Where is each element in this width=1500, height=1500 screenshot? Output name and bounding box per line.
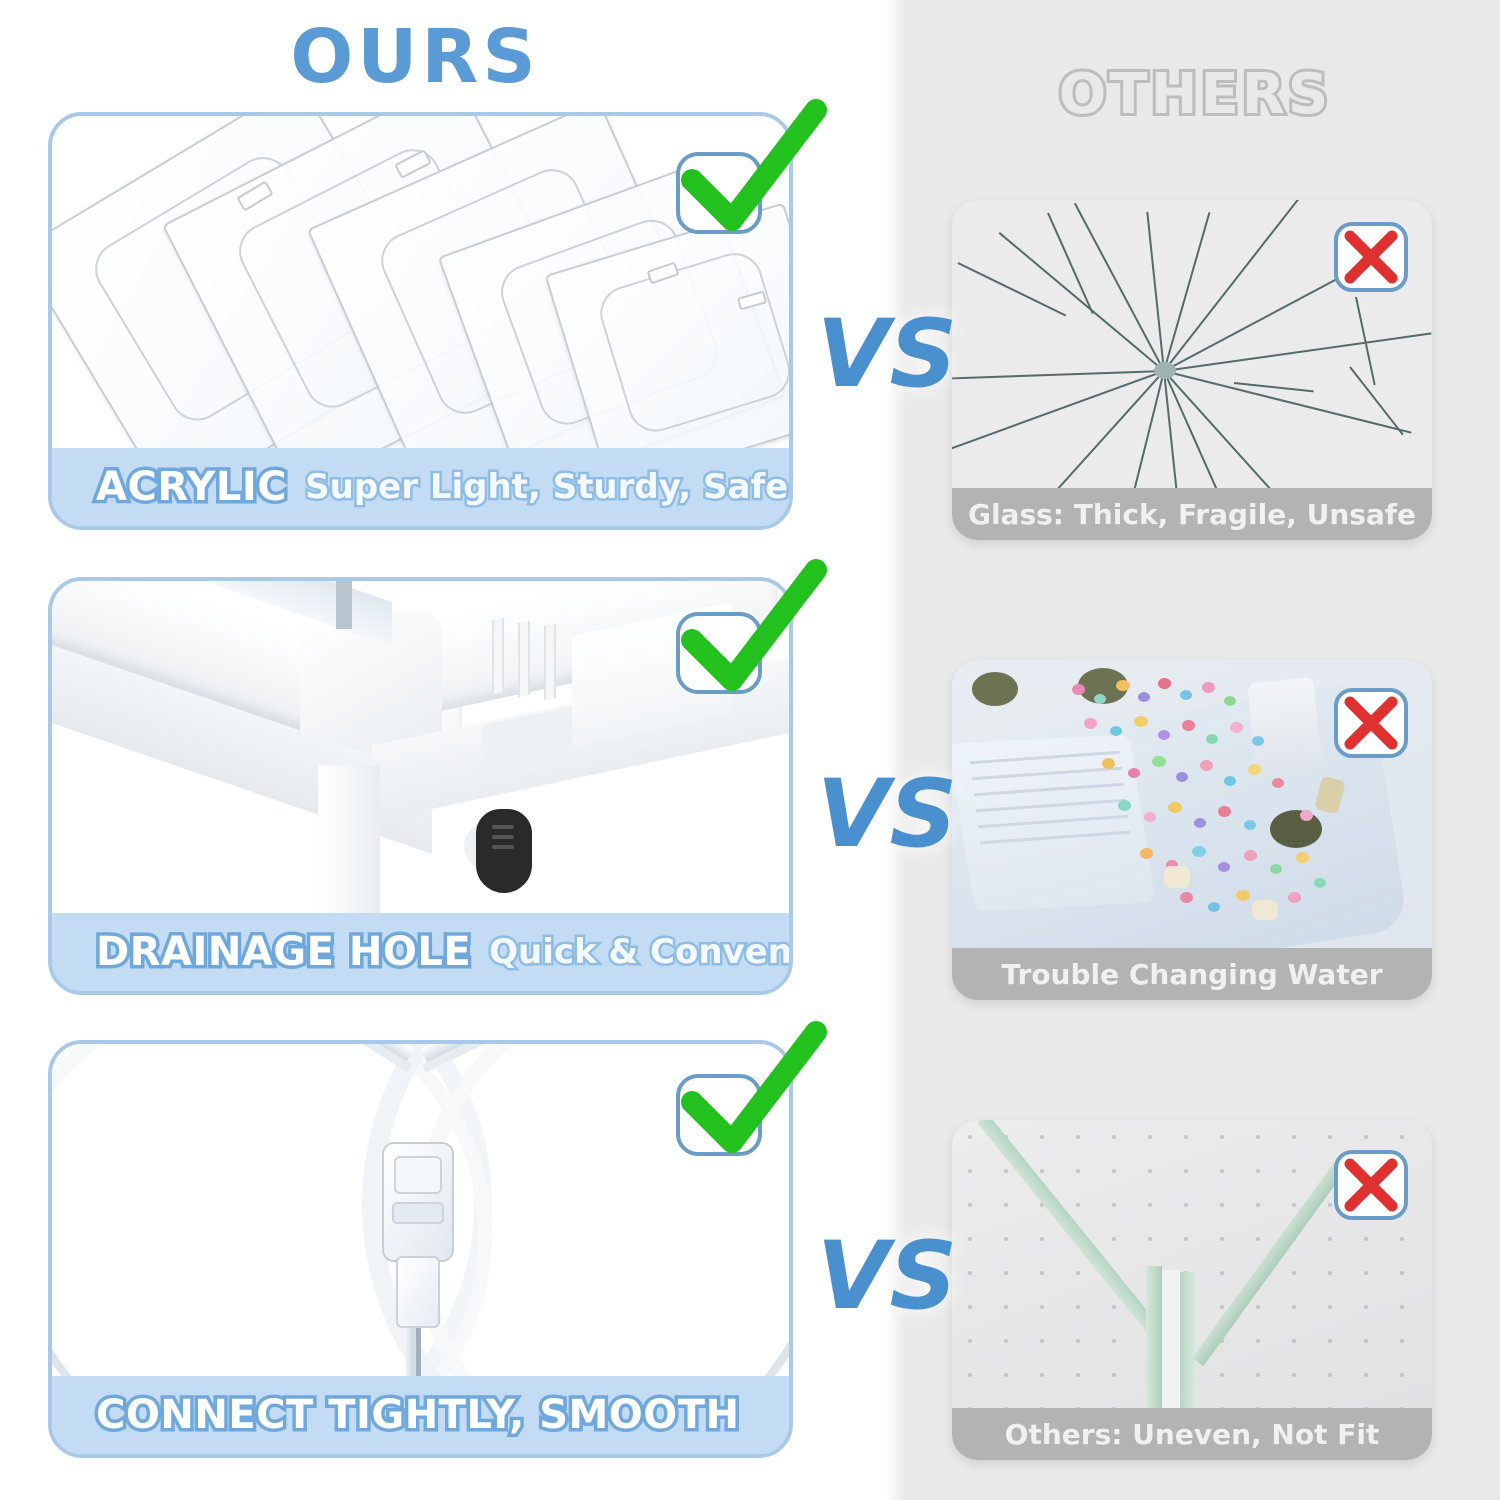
vs-label-row-1: VS — [812, 300, 962, 409]
others-label-bar-row-3: Others: Uneven, Not Fit — [952, 1408, 1432, 1460]
check-icon — [674, 112, 824, 242]
vs-label-row-3: VS — [812, 1222, 962, 1331]
check-badge-row-2 — [676, 612, 762, 694]
cross-badge-row-1 — [1334, 222, 1408, 292]
comparison-infographic: OURS OTHERS ACRYLIC Super Light, Sturdy,… — [0, 0, 1500, 1500]
check-icon — [674, 572, 824, 702]
ours-label-strong-row-1: ACRYLIC — [96, 464, 287, 510]
check-badge-row-3 — [676, 1074, 762, 1156]
page-title-ours: OURS — [0, 14, 830, 100]
ours-label-strong-row-3: CONNECT TIGHTLY, SMOOTH — [96, 1392, 740, 1438]
ours-label-bar-row-1: ACRYLIC Super Light, Sturdy, Safe — [52, 448, 789, 526]
ours-label-bar-row-3: CONNECT TIGHTLY, SMOOTH — [52, 1376, 789, 1454]
others-label-row-3: Others: Uneven, Not Fit — [1005, 1418, 1380, 1451]
cross-badge-row-3 — [1334, 1150, 1408, 1220]
others-label-bar-row-1: Glass: Thick, Fragile, Unsafe — [952, 488, 1432, 540]
ours-label-soft-row-1: Super Light, Sturdy, Safe — [305, 467, 788, 507]
cross-badge-row-2 — [1334, 688, 1408, 758]
others-label-row-1: Glass: Thick, Fragile, Unsafe — [968, 498, 1416, 531]
ours-label-bar-row-2: DRAINAGE HOLE Quick & Convenient — [52, 913, 789, 991]
check-badge-row-1 — [676, 152, 762, 234]
others-label-row-2: Trouble Changing Water — [1001, 958, 1382, 991]
page-title-others: OTHERS — [940, 62, 1450, 127]
check-icon — [674, 1034, 824, 1164]
cross-icon — [1338, 226, 1404, 288]
others-label-bar-row-2: Trouble Changing Water — [952, 948, 1432, 1000]
cross-icon — [1338, 1154, 1404, 1216]
vs-label-row-2: VS — [812, 760, 962, 869]
cross-icon — [1338, 692, 1404, 754]
ours-label-soft-row-2: Quick & Convenient — [489, 932, 793, 972]
ours-label-strong-row-2: DRAINAGE HOLE — [96, 929, 471, 975]
